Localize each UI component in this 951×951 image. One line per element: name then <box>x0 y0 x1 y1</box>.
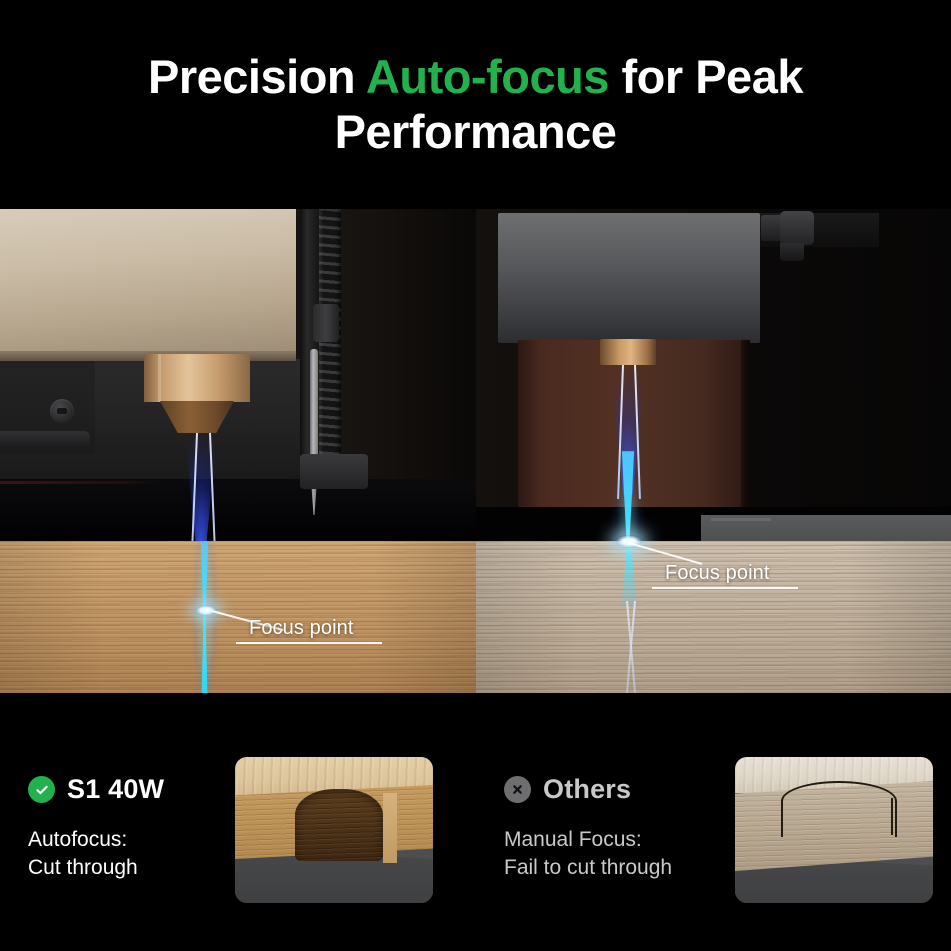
x-circle-icon <box>504 776 531 803</box>
right-module-body <box>518 340 750 507</box>
surface-score-wood-photo <box>735 757 933 903</box>
left-leadscrew-nut <box>313 304 339 342</box>
right-knob-base <box>780 243 804 261</box>
s1-40w-heading-row: S1 40W <box>28 774 164 805</box>
s1-40w-description-line-2: Cut through <box>28 854 138 882</box>
others-description-line-2: Fail to cut through <box>504 854 672 882</box>
headline-section: Precision Auto-focus for Peak Performanc… <box>0 0 951 209</box>
left-carriage-block <box>300 454 368 489</box>
thumb1-cut-kerf-grain <box>295 789 383 861</box>
right-laser-nozzle-ring <box>600 339 656 365</box>
comparison-item-others: Others Manual Focus: Fail to cut through <box>476 693 951 951</box>
left-leadscrew <box>319 209 341 479</box>
check-circle-icon <box>28 776 55 803</box>
thumb1-right-edge-piece <box>383 793 397 863</box>
left-gantry-beam <box>0 209 296 354</box>
left-callout-underline <box>236 642 382 644</box>
s1-40w-description-line-1: Autofocus: <box>28 826 138 854</box>
others-description-line-1: Manual Focus: <box>504 826 672 854</box>
headline-part-1: Precision <box>148 50 366 103</box>
others-description: Manual Focus: Fail to cut through <box>504 826 672 882</box>
page-title: Precision Auto-focus for Peak Performanc… <box>76 50 876 158</box>
right-callout-label: Focus point <box>665 562 770 585</box>
right-callout-underline <box>652 587 798 589</box>
left-callout-label: Focus point <box>249 617 354 640</box>
left-floor-shadow <box>0 479 476 541</box>
cut-through-wood-photo <box>235 757 433 903</box>
thumb2-score-right-tick <box>891 798 893 835</box>
right-knob-large <box>780 211 814 245</box>
left-red-accent-line <box>0 481 160 484</box>
left-laser-nozzle-barrel <box>144 354 250 402</box>
thumb2-score-outline <box>781 781 897 837</box>
right-module-top-housing <box>498 213 760 343</box>
right-module-body-edge <box>741 340 750 507</box>
headline-accent: Auto-focus <box>366 50 609 103</box>
comparison-section: S1 40W Autofocus: Cut through Others <box>0 693 951 951</box>
hero-illustration: Focus point Focus point <box>0 209 951 693</box>
left-mount-bar <box>0 431 90 447</box>
s1-40w-title: S1 40W <box>67 774 164 805</box>
autofocus-probe-rod <box>310 349 318 469</box>
comparison-item-s1-40w: S1 40W Autofocus: Cut through <box>0 693 476 951</box>
right-gray-shelf-highlight <box>711 518 771 521</box>
others-heading-row: Others <box>504 774 631 805</box>
s1-40w-description: Autofocus: Cut through <box>28 826 138 882</box>
others-title: Others <box>543 774 631 805</box>
screw-icon <box>50 399 74 423</box>
